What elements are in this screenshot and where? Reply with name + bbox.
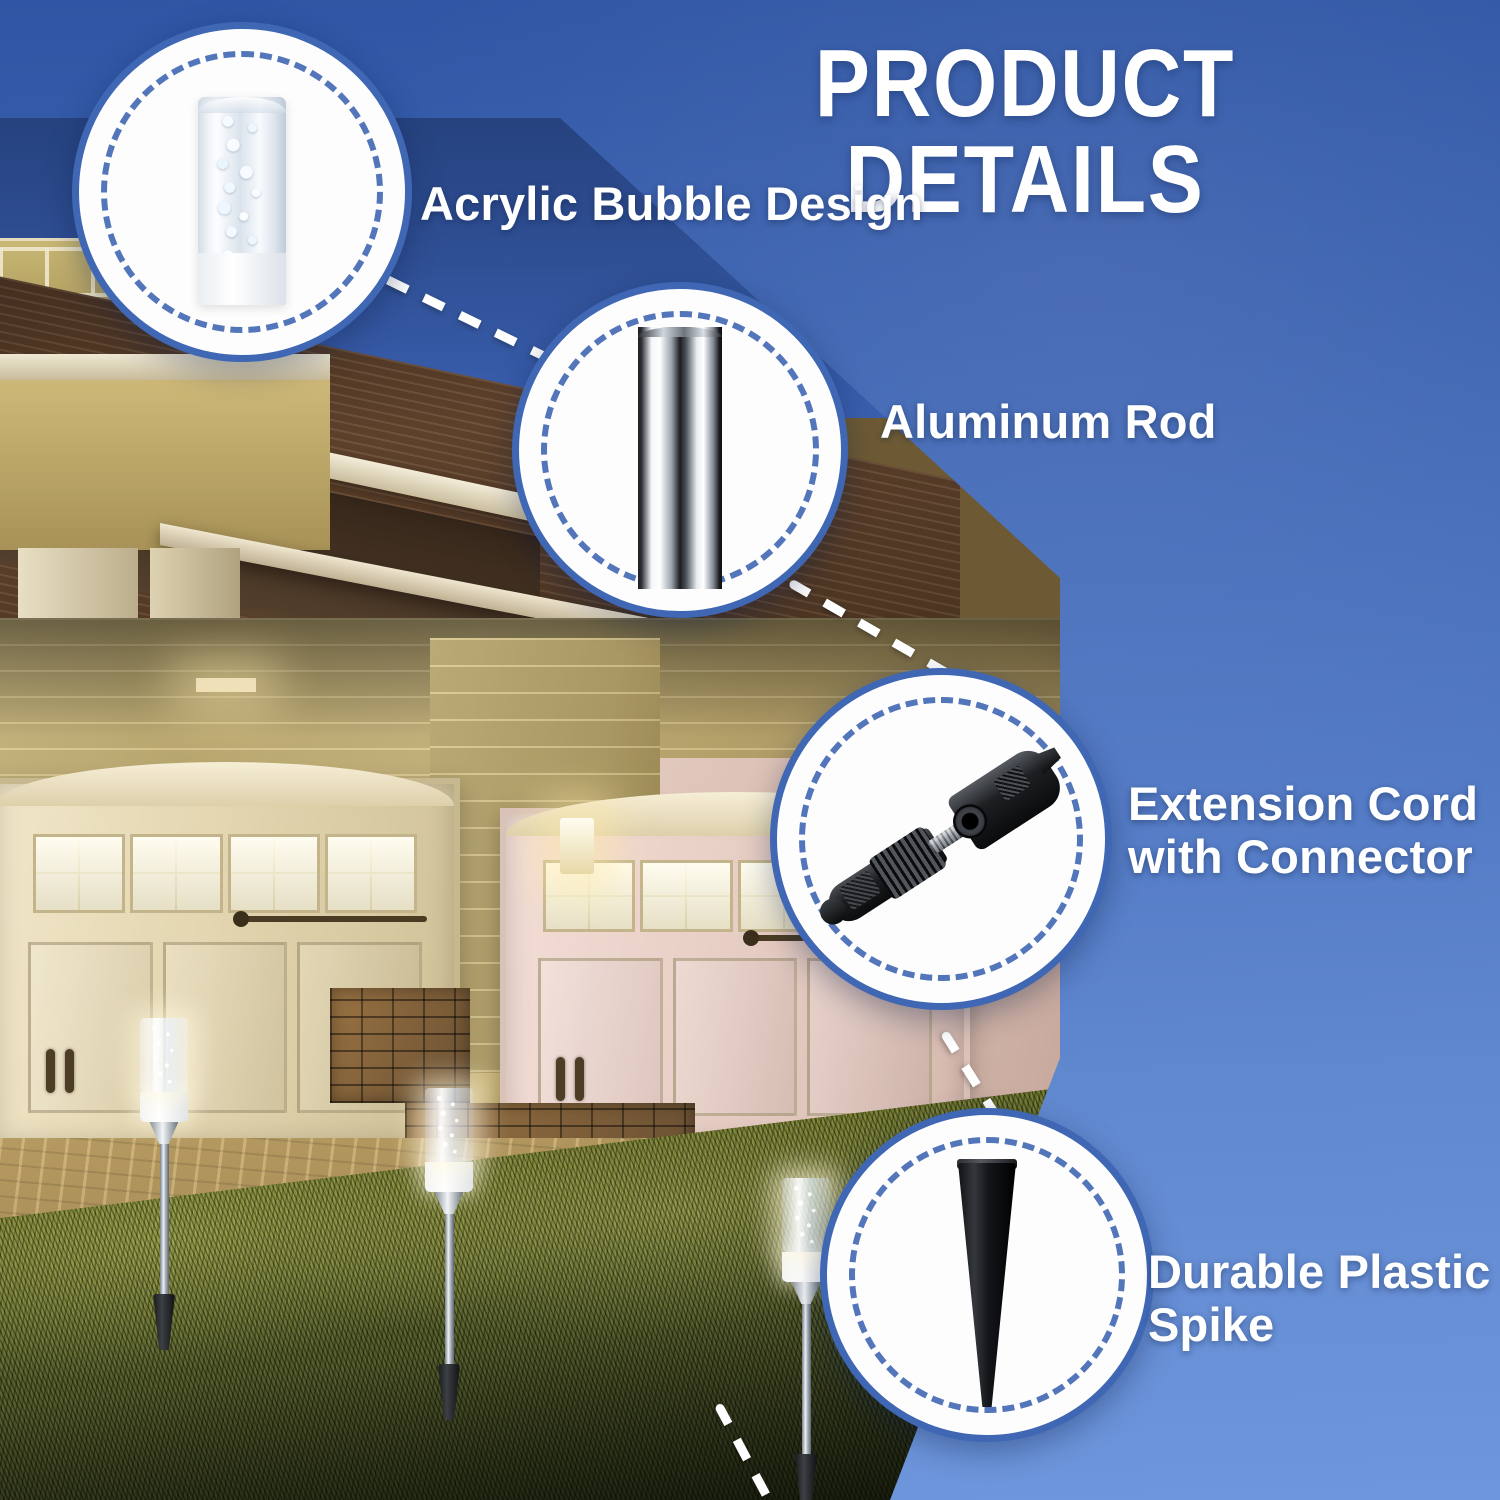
ground-spike [153,1294,175,1350]
ground-spike-icon [827,1115,1147,1435]
aluminum-rod-icon [519,289,841,611]
acrylic-bubble-lens [140,1018,188,1092]
garage-handle-bar-left [243,916,426,922]
rod-cone [792,1282,821,1304]
ground-spike [795,1454,817,1500]
aluminum-rod-shaft [160,1144,169,1294]
acrylic-bubble-lens [425,1088,473,1162]
path-light-fixture [782,1178,830,1500]
acrylic-bubble-cylinder-icon [79,29,405,355]
lens-collar [425,1162,473,1192]
aluminum-rod-shaft [445,1214,454,1364]
barrel-connector-icon [777,675,1105,1003]
label-line: Durable Plastic [1148,1246,1491,1299]
wall-sconce-light [560,818,594,874]
label-line: Acrylic Bubble Design [420,178,923,231]
infographic-canvas: PRODUCT DETAILS Acrylic Bubble Design Al… [0,0,1500,1500]
lens-collar [140,1092,188,1122]
callout-aluminum-rod[interactable] [512,282,848,618]
rod-cone [435,1192,464,1214]
rod-cone [150,1122,179,1144]
path-light-fixture [140,1018,188,1350]
callout-label-aluminum-rod: Aluminum Rod [880,396,1217,449]
callout-label-durable-plastic-spike: Durable Plastic Spike [1148,1246,1491,1351]
callout-label-extension-cord-with-connector: Extension Cord with Connector [1128,778,1478,883]
callout-acrylic-bubble-design[interactable] [72,22,412,362]
soffit-downlight [196,678,256,692]
aluminum-rod-shaft [802,1304,811,1454]
ground-spike [438,1364,460,1420]
callout-durable-plastic-spike[interactable] [820,1108,1154,1442]
callout-label-acrylic-bubble-design: Acrylic Bubble Design [420,178,923,231]
label-line: Extension Cord [1128,778,1478,831]
path-light-fixture [425,1088,473,1420]
label-line: Spike [1148,1299,1491,1352]
label-line: with Connector [1128,831,1478,884]
stone-veneer-left [330,988,470,1103]
label-line: Aluminum Rod [880,396,1217,449]
callout-extension-cord-with-connector[interactable] [770,668,1112,1010]
